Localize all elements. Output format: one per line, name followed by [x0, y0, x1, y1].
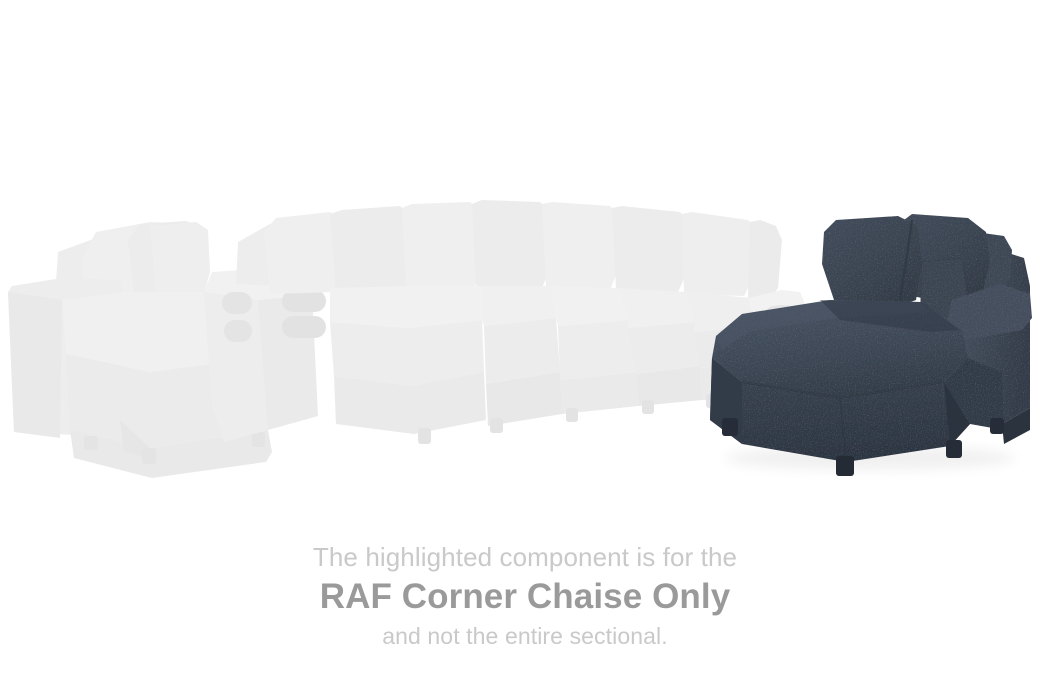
chaise-leg-rear-right [946, 440, 962, 458]
chaise-leg-front-left [722, 418, 738, 436]
ghosted-sectional-group [8, 200, 808, 478]
chaise-leg-rear-far [990, 418, 1004, 434]
caption-line-intro: The highlighted component is for the [0, 540, 1050, 574]
product-figure [0, 0, 1050, 520]
caption-component-name: RAF Corner Chaise Only [0, 574, 1050, 620]
sectional-sofa-illustration [0, 0, 1050, 520]
chaise-leg-front-center [836, 456, 854, 476]
chaise-back-cushion-left [822, 216, 922, 310]
caption-block: The highlighted component is for the RAF… [0, 540, 1050, 652]
product-highlight-screenshot: The highlighted component is for the RAF… [0, 0, 1050, 700]
caption-line-disclaimer: and not the entire sectional. [0, 620, 1050, 652]
